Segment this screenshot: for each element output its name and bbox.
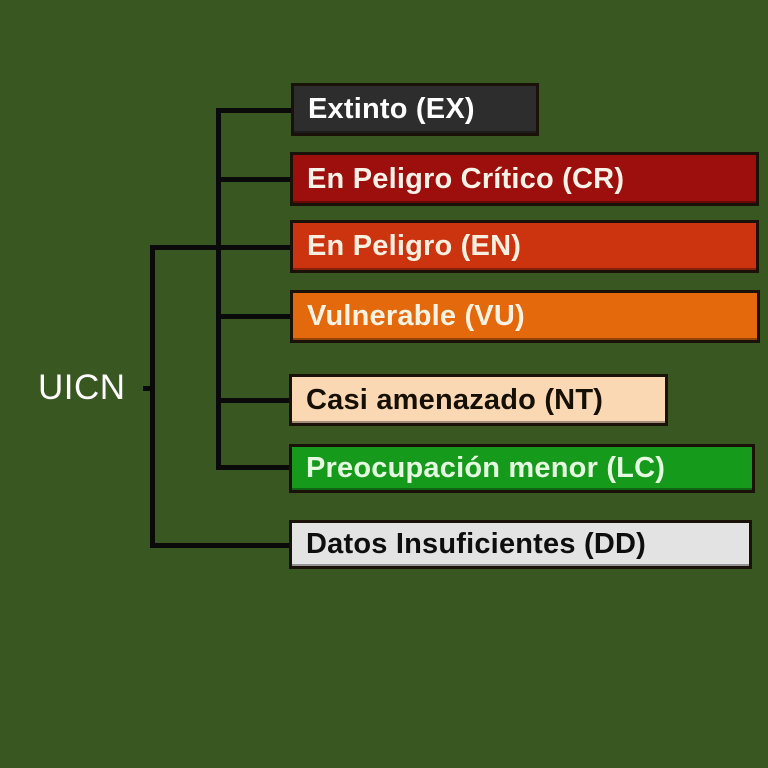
category-box-vu[interactable]: Vulnerable (VU) — [290, 290, 760, 343]
connector-outer-branch-0 — [150, 245, 220, 250]
connector-inner-branch-cr — [216, 177, 292, 182]
connector-inner-branch-ex — [216, 108, 292, 113]
category-label-nt: Casi amenazado (NT) — [306, 386, 603, 415]
connector-inner-branch-lc — [216, 465, 292, 470]
root-label-uicn: UICN — [38, 366, 126, 410]
connector-outer-trunk — [150, 245, 155, 548]
connector-inner-branch-vu — [216, 314, 292, 319]
category-box-cr[interactable]: En Peligro Crítico (CR) — [290, 152, 759, 206]
iucn-categories-diagram: UICN Extinto (EX)En Peligro Crítico (CR)… — [0, 0, 768, 768]
connector-inner-branch-en — [216, 245, 292, 250]
category-label-en: En Peligro (EN) — [307, 232, 521, 261]
category-label-dd: Datos Insuficientes (DD) — [306, 530, 646, 559]
category-box-en[interactable]: En Peligro (EN) — [290, 220, 759, 273]
category-label-lc: Preocupación menor (LC) — [306, 454, 665, 483]
category-box-nt[interactable]: Casi amenazado (NT) — [289, 374, 668, 426]
connector-inner-branch-nt — [216, 398, 292, 403]
category-label-vu: Vulnerable (VU) — [307, 302, 525, 331]
category-label-cr: En Peligro Crítico (CR) — [307, 165, 624, 194]
category-box-dd[interactable]: Datos Insuficientes (DD) — [289, 520, 752, 569]
connector-outer-branch-1 — [150, 543, 290, 548]
category-label-ex: Extinto (EX) — [308, 95, 475, 124]
category-box-lc[interactable]: Preocupación menor (LC) — [289, 444, 755, 493]
connector-inner-trunk — [216, 108, 221, 469]
category-box-ex[interactable]: Extinto (EX) — [291, 83, 539, 136]
